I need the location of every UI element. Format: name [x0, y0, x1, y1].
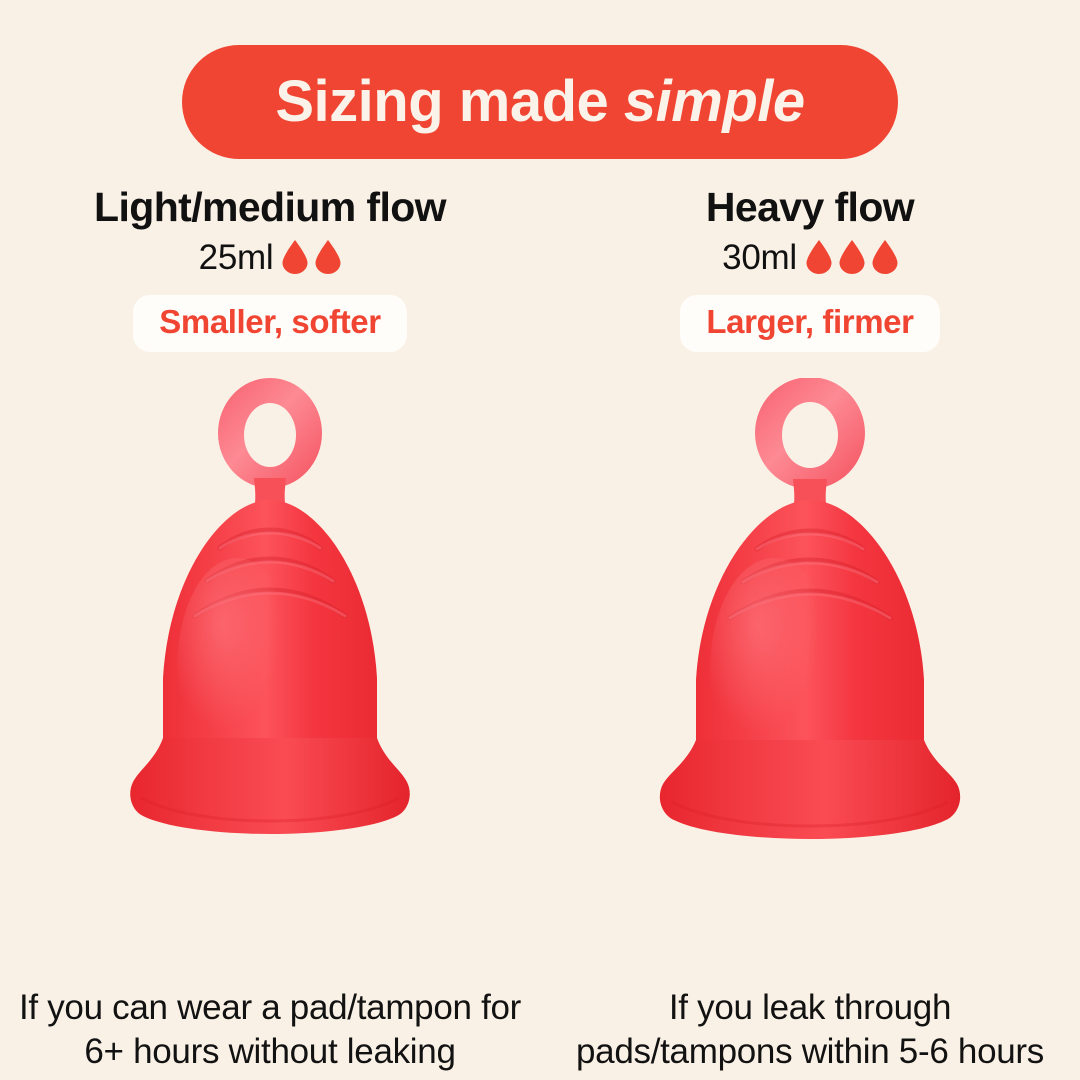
blood-drop-icon [282, 240, 308, 274]
title-text-normal: Sizing made [275, 69, 624, 134]
badge-label: Smaller, softer [159, 303, 380, 340]
title-banner: Sizing made simple [182, 45, 898, 159]
caption-heavy: If you leak through pads/tampons within … [540, 986, 1080, 1074]
column-light-medium: Light/medium flow 25ml Smaller, softer [0, 185, 540, 1080]
drop-rating-light-medium [282, 240, 341, 274]
volume-row-heavy: 30ml [722, 237, 898, 277]
blood-drop-icon [872, 240, 898, 274]
column-heavy: Heavy flow 30ml [540, 185, 1080, 1080]
volume-label-light-medium: 25ml [199, 240, 274, 275]
badge-larger-firmer: Larger, firmer [680, 295, 939, 351]
blood-drop-icon [315, 240, 341, 274]
comparison-columns: Light/medium flow 25ml Smaller, softer [0, 185, 1080, 1080]
badge-smaller-softer: Smaller, softer [133, 295, 406, 351]
blood-drop-icon [839, 240, 865, 274]
menstrual-cup-large-icon [654, 378, 966, 868]
flow-heading-light-medium: Light/medium flow [94, 185, 446, 229]
badge-label: Larger, firmer [706, 303, 913, 340]
page-title: Sizing made simple [275, 73, 804, 131]
flow-heading-heavy: Heavy flow [706, 185, 914, 229]
volume-label-heavy: 30ml [722, 240, 797, 275]
volume-row-light-medium: 25ml [199, 237, 342, 277]
title-text-emphasis: simple [624, 69, 805, 134]
blood-drop-icon [806, 240, 832, 274]
menstrual-cup-small-icon [125, 378, 415, 868]
drop-rating-heavy [806, 240, 898, 274]
caption-light-medium: If you can wear a pad/tampon for 6+ hour… [0, 986, 540, 1074]
